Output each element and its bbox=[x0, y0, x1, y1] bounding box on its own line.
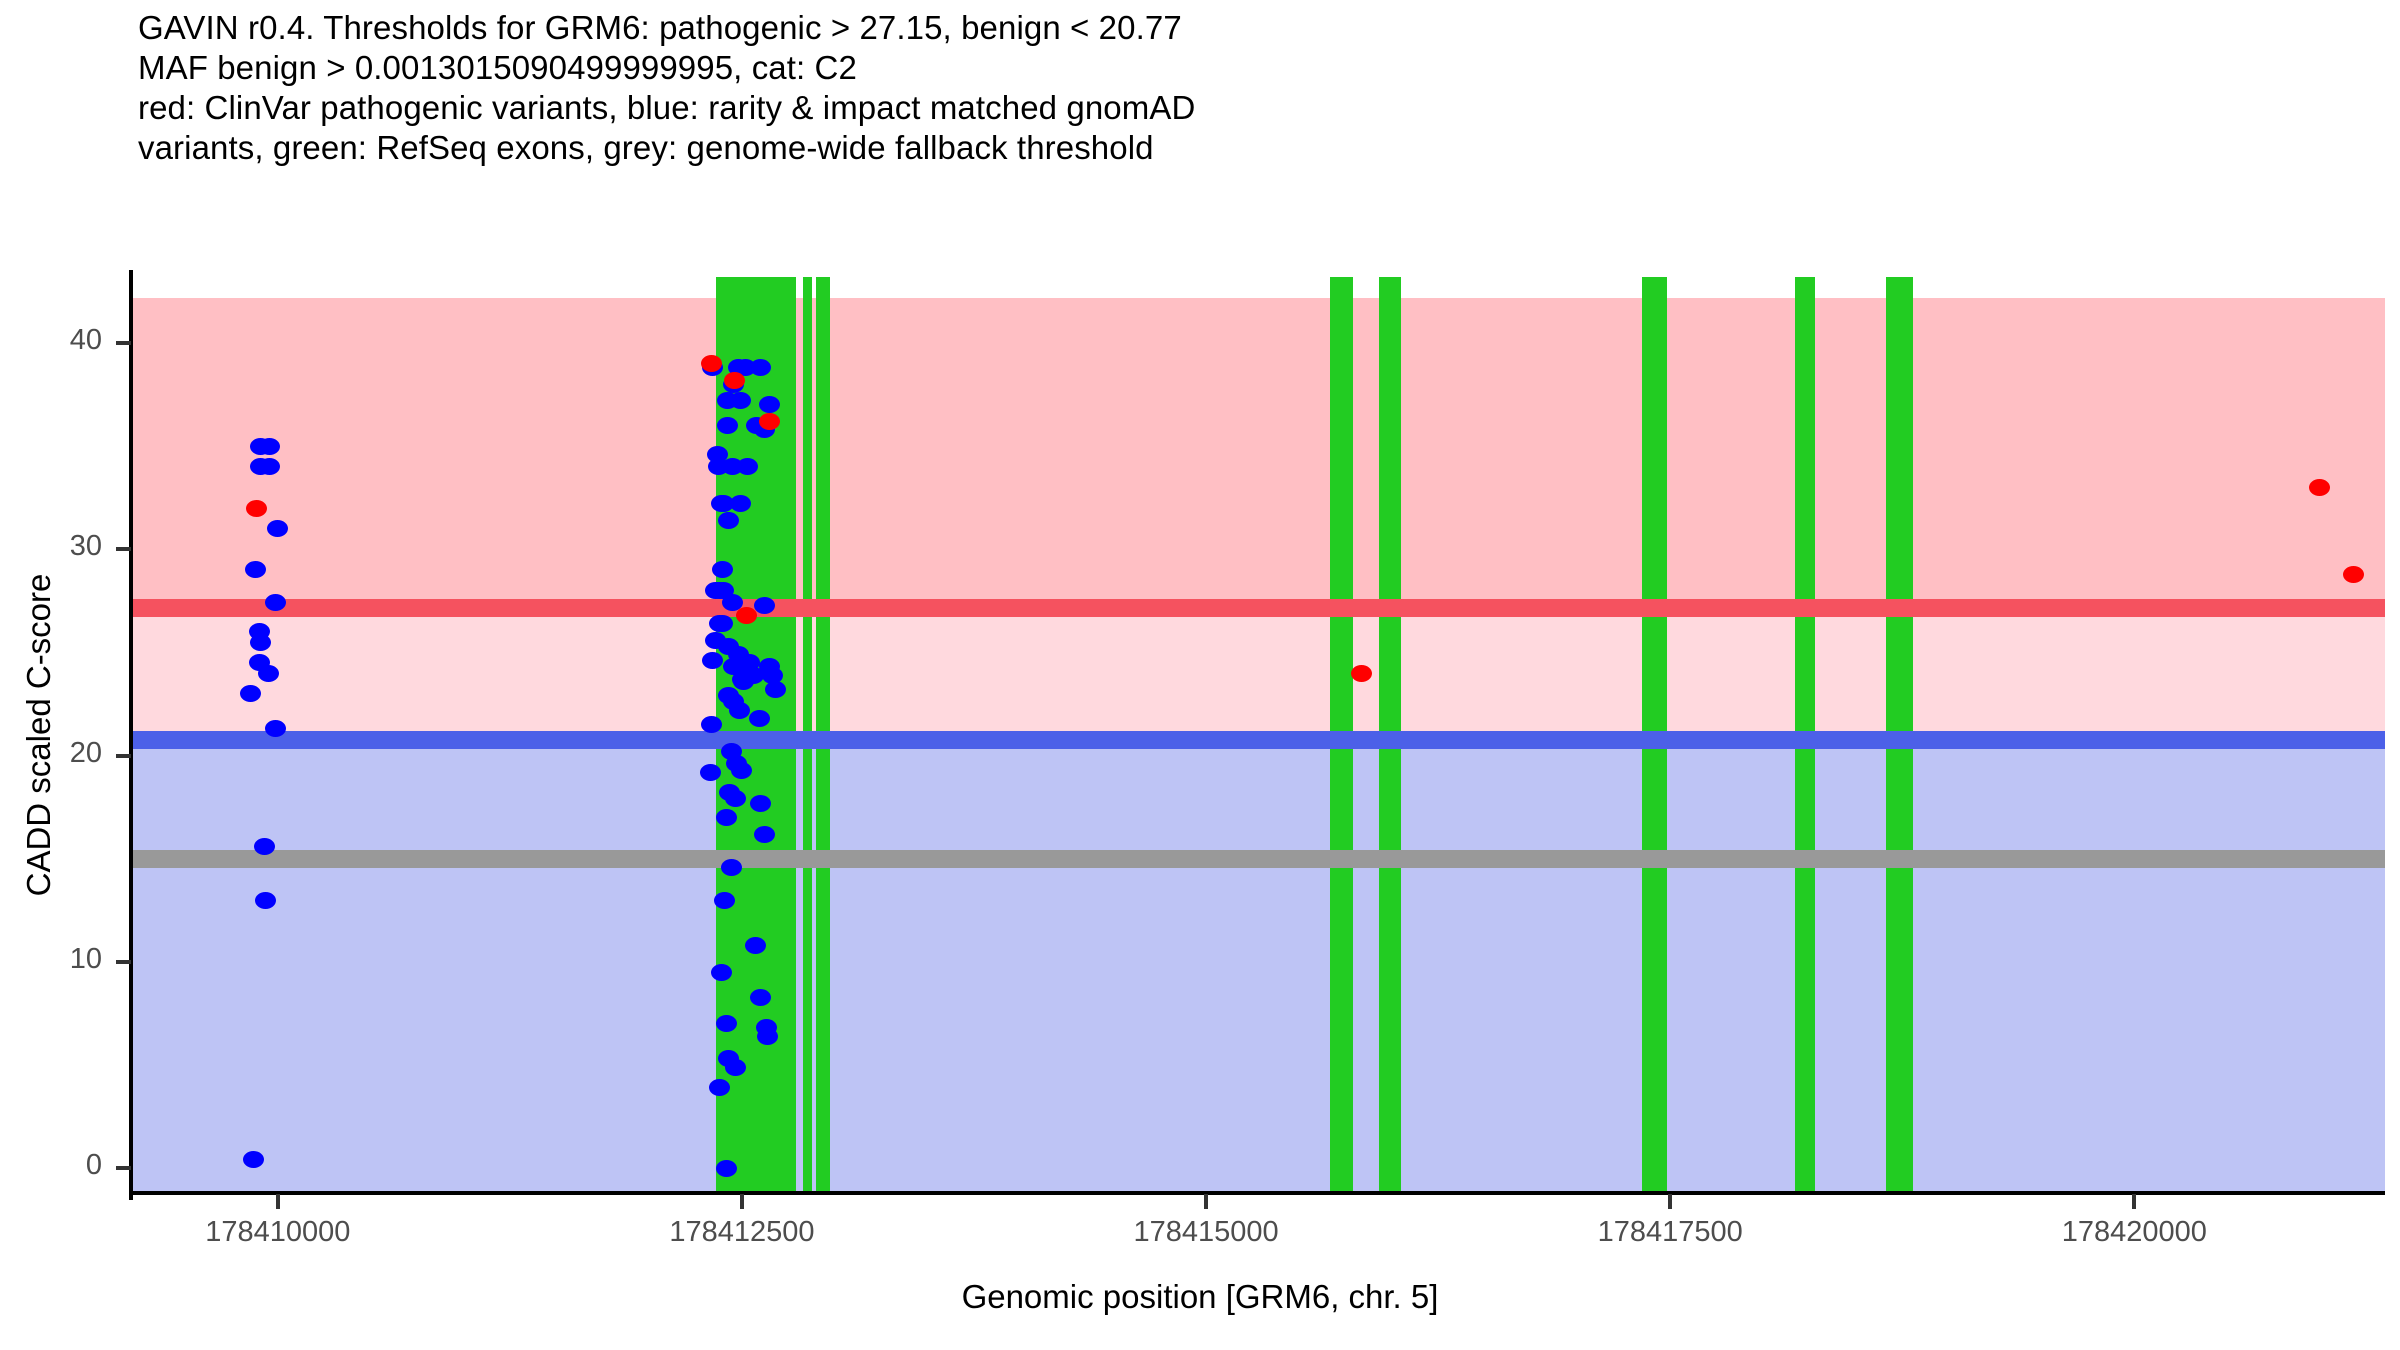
gnomad-variant-point bbox=[702, 652, 723, 669]
x-axis-line bbox=[129, 1191, 2385, 1195]
band-pathogenic bbox=[133, 298, 2385, 608]
x-tick bbox=[1204, 1194, 1208, 1209]
x-tick-label: 178420000 bbox=[2062, 1216, 2207, 1249]
x-tick-label: 178410000 bbox=[205, 1216, 350, 1249]
x-tick-label: 178415000 bbox=[1134, 1216, 1279, 1249]
y-tick-label: 0 bbox=[86, 1149, 102, 1182]
clinvar-pathogenic-point bbox=[724, 372, 745, 389]
gnomad-variant-point bbox=[716, 809, 737, 826]
y-tick bbox=[116, 1166, 131, 1170]
gnomad-variant-point bbox=[754, 597, 775, 614]
x-tick-label: 178417500 bbox=[1598, 1216, 1743, 1249]
gnomad-variant-point bbox=[754, 826, 775, 843]
plot-panel bbox=[133, 277, 2385, 1193]
gnomad-variant-point bbox=[255, 892, 276, 909]
gnomad-variant-point bbox=[731, 762, 752, 779]
gnomad-variant-point bbox=[701, 716, 722, 733]
y-tick-label: 30 bbox=[70, 530, 102, 563]
gnomad-variant-point bbox=[265, 594, 286, 611]
clinvar-pathogenic-point bbox=[1351, 665, 1372, 682]
threshold-line-fallback-threshold bbox=[133, 850, 2385, 868]
x-tick bbox=[276, 1194, 280, 1209]
threshold-line-benign-threshold bbox=[133, 731, 2385, 749]
gnomad-variant-point bbox=[757, 1028, 778, 1045]
gnomad-variant-point bbox=[716, 1160, 737, 1177]
gnomad-variant-point bbox=[749, 710, 770, 727]
clinvar-pathogenic-point bbox=[701, 355, 722, 372]
gnomad-variant-point bbox=[714, 892, 735, 909]
y-axis-title: CADD scaled C-score bbox=[20, 277, 58, 1193]
y-tick bbox=[116, 960, 131, 964]
gnomad-variant-point bbox=[716, 1015, 737, 1032]
clinvar-pathogenic-point bbox=[2343, 566, 2364, 583]
y-tick-label: 10 bbox=[70, 943, 102, 976]
gnomad-variant-point bbox=[765, 681, 786, 698]
band-ambiguous bbox=[133, 608, 2385, 740]
y-tick-label: 40 bbox=[70, 324, 102, 357]
clinvar-pathogenic-point bbox=[2309, 479, 2330, 496]
gnomad-variant-point bbox=[730, 392, 751, 409]
x-axis-title: Genomic position [GRM6, chr. 5] bbox=[0, 1278, 2400, 1316]
gnomad-variant-point bbox=[700, 764, 721, 781]
gnomad-variant-point bbox=[259, 438, 280, 455]
scatter-plot-figure: CADD scaled C-score Genomic position [GR… bbox=[0, 0, 2400, 1350]
gnomad-variant-point bbox=[712, 615, 733, 632]
gnomad-variant-point bbox=[730, 495, 751, 512]
gnomad-variant-point bbox=[721, 859, 742, 876]
y-axis-line bbox=[129, 270, 133, 1200]
gnomad-variant-point bbox=[258, 665, 279, 682]
gnomad-variant-point bbox=[750, 795, 771, 812]
y-tick-label: 20 bbox=[70, 737, 102, 770]
gnomad-variant-point bbox=[733, 673, 754, 690]
gnomad-variant-point bbox=[717, 417, 738, 434]
x-tick bbox=[1668, 1194, 1672, 1209]
y-tick bbox=[116, 547, 131, 551]
gnomad-variant-point bbox=[729, 702, 750, 719]
gnomad-variant-point bbox=[250, 634, 271, 651]
x-tick bbox=[740, 1194, 744, 1209]
x-tick bbox=[2132, 1194, 2136, 1209]
threshold-line-pathogenic-threshold bbox=[133, 599, 2385, 617]
gnomad-variant-point bbox=[725, 1059, 746, 1076]
clinvar-pathogenic-point bbox=[736, 607, 757, 624]
gnomad-variant-point bbox=[711, 964, 732, 981]
y-tick bbox=[116, 754, 131, 758]
y-tick bbox=[116, 341, 131, 345]
band-benign bbox=[133, 740, 2385, 1193]
clinvar-pathogenic-point bbox=[246, 500, 267, 517]
gnomad-variant-point bbox=[750, 989, 771, 1006]
x-tick-label: 178412500 bbox=[669, 1216, 814, 1249]
